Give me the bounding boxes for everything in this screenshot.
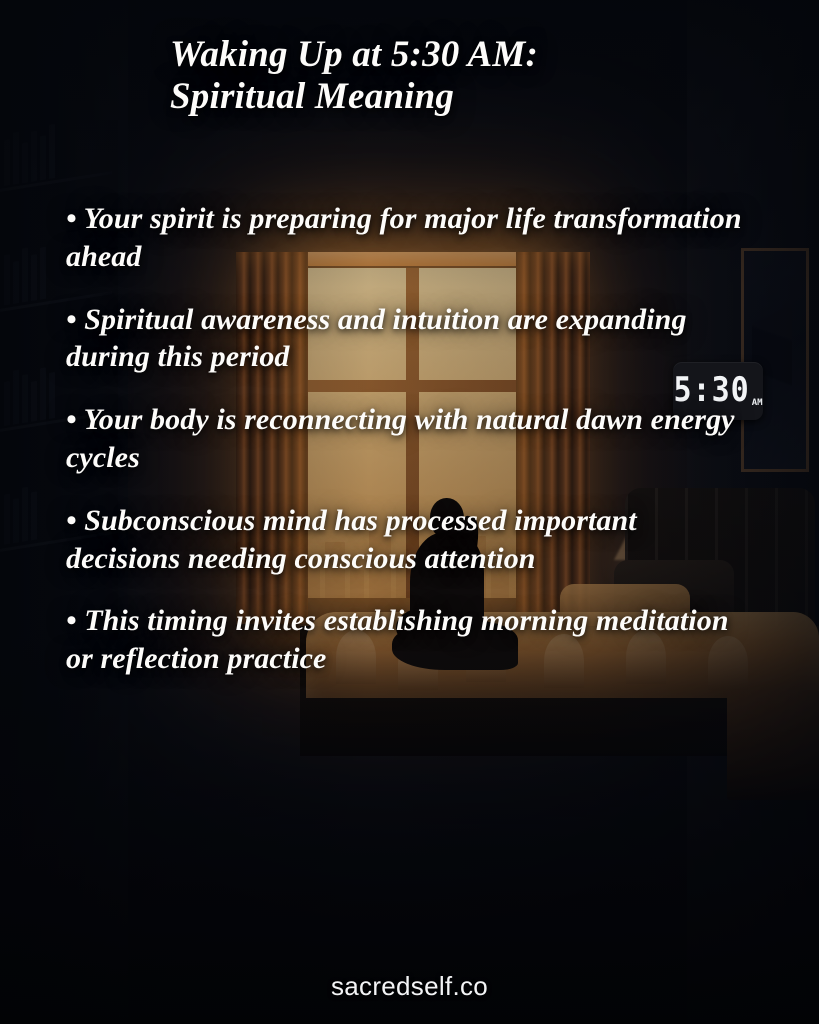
bullet-list: • Your spirit is preparing for major lif… (66, 200, 756, 678)
site-watermark: sacredself.co (0, 971, 819, 1002)
list-item: • Spiritual awareness and intuition are … (66, 301, 756, 377)
title-line-1: Waking Up at 5:30 AM: (170, 34, 750, 76)
nightstand (727, 690, 819, 800)
list-item: • This timing invites establishing morni… (66, 602, 756, 678)
list-item: • Subconscious mind has processed import… (66, 502, 756, 578)
page-title: Waking Up at 5:30 AM: Spiritual Meaning (170, 34, 750, 118)
poster-canvas: 5:30 AM Waking Up at 5:30 AM: Spiritual … (0, 0, 819, 1024)
list-item: • Your body is reconnecting with natural… (66, 401, 756, 477)
title-line-2: Spiritual Meaning (170, 76, 750, 118)
list-item: • Your spirit is preparing for major lif… (66, 200, 756, 276)
